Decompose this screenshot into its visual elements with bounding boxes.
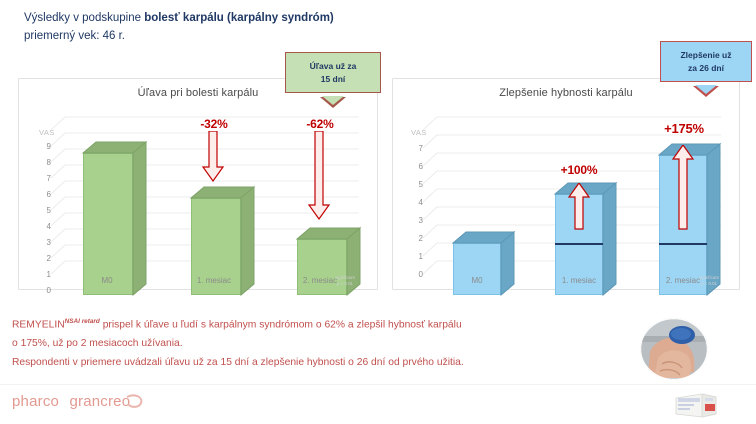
arrow-up-mobility-m1 — [567, 183, 593, 231]
bar-relief-m0-3d — [83, 153, 147, 295]
arrow-down-relief-m2 — [307, 131, 333, 227]
ytick-mobility-5: 5 — [409, 180, 423, 189]
ytick-mobility-7: 7 — [409, 144, 423, 153]
slide-root: Výsledky v podskupine bolesť karpálu (ka… — [0, 0, 756, 424]
ytick-mobility-2: 2 — [409, 234, 423, 243]
summary-line-1-rest: prispel k úľave u ľudí s karpálnym syndr… — [100, 319, 462, 330]
callout-mobility-days-line1: Zlepšenie už — [667, 49, 745, 62]
xlabel-relief-m0: M0 — [77, 276, 137, 285]
ytick-mobility-4: 4 — [409, 198, 423, 207]
callout-relief-days-line2: 15 dní — [292, 73, 374, 86]
product-box-icon — [672, 392, 718, 418]
ytick-relief-9: 9 — [37, 142, 51, 151]
footnote-mobility-l2: p < 0.01 — [679, 281, 739, 287]
brand-superscript: NSAI retard — [65, 318, 100, 325]
ytick-relief-7: 7 — [37, 174, 51, 183]
header-line-1-prefix: Výsledky v podskupine — [24, 12, 144, 24]
callout-mobility-days-tail-inner — [695, 85, 717, 94]
product-box-image — [672, 392, 718, 418]
callout-mobility-days: Zlepšenie už za 26 dní — [660, 41, 752, 82]
summary-line-1: REMYELINNSAI retard prispel k úľave u ľu… — [12, 312, 612, 334]
footnote-mobility: significant p < 0.01 — [679, 275, 739, 287]
chart-panel-relief: Úľava pri bolesti karpálu VAS 9 — [18, 78, 378, 290]
pct-label-relief-m1: -32% — [179, 117, 249, 131]
summary-paragraph: REMYELINNSAI retard prispel k úľave u ľu… — [12, 312, 612, 372]
ytick-relief-1: 1 — [37, 270, 51, 279]
ytick-relief-0: 0 — [37, 286, 51, 295]
ytick-mobility-0: 0 — [409, 270, 423, 279]
axis-label-vas-mobility: VAS — [411, 128, 427, 137]
ytick-relief-4: 4 — [37, 222, 51, 231]
ytick-relief-2: 2 — [37, 254, 51, 263]
ytick-mobility-6: 6 — [409, 162, 423, 171]
header-line-2: priemerný vek: 46 r. — [24, 28, 584, 44]
pct-label-mobility-m1: +100% — [544, 163, 614, 177]
baseline-mobility-m1 — [555, 243, 603, 245]
summary-line-2: o 175%, už po 2 mesiacoch užívania. — [12, 334, 612, 353]
bar-relief-m0 — [83, 153, 133, 295]
company-logo: pharco grancreo — [12, 393, 145, 410]
wrist-photo-image — [640, 318, 708, 380]
summary-line-3: Respondenti v priemere uvádzali úľavu už… — [12, 353, 612, 372]
xlabel-mobility-m1: 1. mesiac — [549, 276, 609, 285]
pct-label-relief-m2: -62% — [285, 117, 355, 131]
swirl-icon — [125, 393, 145, 409]
arrow-up-mobility-m2 — [671, 145, 697, 231]
chart-panel-mobility: Zlepšenie hybnosti karpálu VAS 7 6 5 — [392, 78, 740, 290]
brand-name: REMYELIN — [12, 319, 65, 330]
callout-mobility-days-box: Zlepšenie už za 26 dní — [660, 41, 752, 82]
callout-relief-days-box: Úľava už za 15 dní — [285, 52, 381, 93]
ytick-mobility-1: 1 — [409, 252, 423, 261]
header-line-1-bold: bolesť karpálu (karpálny syndróm) — [144, 12, 334, 24]
ytick-relief-6: 6 — [37, 190, 51, 199]
slide-header: Výsledky v podskupine bolesť karpálu (ka… — [24, 10, 584, 44]
footnote-relief: significant p < 0.01 — [315, 275, 375, 287]
company-logo-grancreo: grancreo — [69, 393, 130, 410]
ytick-relief-3: 3 — [37, 238, 51, 247]
header-line-1: Výsledky v podskupine bolesť karpálu (ka… — [24, 10, 584, 26]
xlabel-mobility-m0: M0 — [447, 276, 507, 285]
plot-area-relief: VAS 9 8 7 6 5 4 3 2 1 0 — [19, 79, 377, 289]
footnote-relief-l2: p < 0.01 — [315, 281, 375, 287]
callout-relief-days: Úľava už za 15 dní — [285, 52, 381, 93]
callout-relief-days-tail-inner — [322, 96, 344, 105]
xlabel-relief-m1: 1. mesiac — [184, 276, 244, 285]
bar-mobility-m0 — [453, 243, 501, 295]
ytick-mobility-3: 3 — [409, 216, 423, 225]
bar-mobility-m0-3d — [453, 243, 515, 295]
baseline-mobility-m2 — [659, 243, 707, 245]
callout-relief-days-line1: Úľava už za — [292, 60, 374, 73]
company-logo-pharco: pharco — [12, 393, 59, 410]
pct-label-mobility-m2: +175% — [649, 121, 719, 136]
ytick-relief-5: 5 — [37, 206, 51, 215]
ytick-relief-8: 8 — [37, 158, 51, 167]
callout-mobility-days-line2: za 26 dní — [667, 62, 745, 75]
axis-label-vas-relief: VAS — [39, 128, 55, 137]
plot-area-mobility: VAS 7 6 5 4 3 2 1 0 — [393, 79, 739, 289]
footer-divider — [0, 384, 756, 385]
wrist-photo — [640, 318, 708, 380]
arrow-down-relief-m1 — [201, 131, 227, 189]
